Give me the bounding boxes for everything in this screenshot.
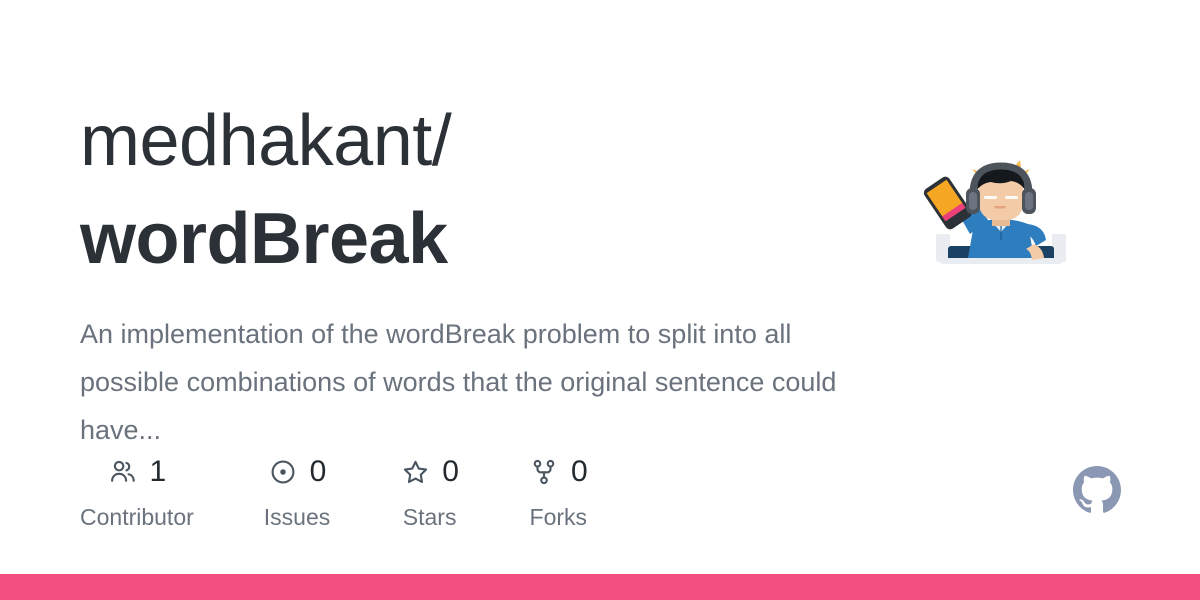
stat-stars: 0 Stars	[400, 452, 459, 530]
stat-stars-value: 0	[442, 457, 459, 487]
stat-forks-label: Forks	[530, 504, 588, 530]
github-octocat-icon	[1073, 466, 1121, 514]
stat-issues-value: 0	[310, 457, 327, 487]
stat-contributors: 1 Contributor	[80, 452, 194, 530]
repo-social-preview-card: medhakant/ wordBreak An implementation o…	[0, 0, 1200, 600]
star-icon	[400, 457, 430, 487]
page-title: medhakant/ wordBreak	[80, 92, 700, 288]
repo-title-line-name: wordBreak	[80, 190, 700, 288]
repo-owner: medhakant/	[80, 101, 451, 181]
user-avatar-illustration	[918, 158, 1084, 270]
stat-forks: 0 Forks	[529, 452, 588, 530]
people-icon	[108, 457, 138, 487]
stat-contributors-top: 1	[108, 452, 167, 492]
stat-stars-top: 0	[400, 452, 459, 492]
stat-issues: 0 Issues	[264, 452, 330, 530]
stat-stars-label: Stars	[403, 504, 457, 530]
repo-title-line-owner: medhakant/	[80, 92, 700, 190]
repo-stats: 1 Contributor 0 Issues	[80, 452, 588, 530]
repo-name: wordBreak	[80, 199, 448, 279]
repo-description: An implementation of the wordBreak probl…	[80, 310, 870, 454]
issue-opened-icon	[268, 457, 298, 487]
stat-forks-top: 0	[529, 452, 588, 492]
stat-issues-label: Issues	[264, 504, 330, 530]
accent-bar	[0, 574, 1200, 600]
repo-forked-icon	[529, 457, 559, 487]
stat-contributors-value: 1	[150, 457, 167, 487]
stat-contributors-label: Contributor	[80, 504, 194, 530]
stat-forks-value: 0	[571, 457, 588, 487]
stat-issues-top: 0	[268, 452, 327, 492]
